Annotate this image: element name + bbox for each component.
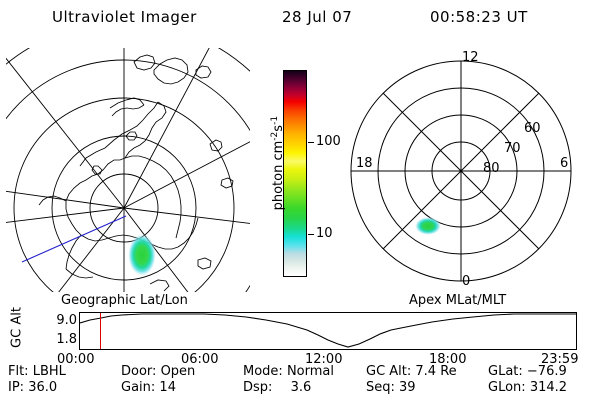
status-gcalt: GC Alt: 7.4 Re (366, 364, 457, 379)
status-glat-value: −76.9 (527, 364, 567, 379)
colorbar-axis-label-mid: s (271, 125, 286, 132)
status-door-value: Open (161, 364, 196, 379)
status-ip-label: IP: (8, 380, 24, 395)
status-seq-value: 39 (399, 380, 416, 395)
status-gcalt-label: GC Alt: (366, 364, 411, 379)
status-dsp-value: 3.6 (291, 380, 312, 395)
mlat-label-60: 60 (524, 121, 541, 136)
mlt-label-0: 0 (462, 274, 470, 289)
mlt-label-18: 18 (356, 156, 373, 171)
colorbar-axis-label: photon cm-2s-1 (270, 83, 286, 243)
altitude-curve (80, 314, 576, 347)
status-glon: GLon: 314.2 (488, 380, 567, 395)
colorbar-label-10: 10 (316, 227, 333, 240)
strip-y-axis-label: GC Alt (10, 295, 25, 361)
mlat-label-80: 80 (483, 161, 500, 176)
strip-plot-box (79, 312, 577, 350)
geographic-map-svg (6, 48, 250, 292)
status-seq: Seq: 39 (366, 380, 416, 395)
colorbar-tick-100 (308, 142, 314, 143)
status-door: Door: Open (121, 364, 195, 379)
auroral-emission-spot-apex (415, 217, 441, 235)
colorbar-tick-10 (308, 234, 314, 235)
altitude-curve-svg (80, 313, 576, 349)
colorbar-axis-label-sup1: -2 (270, 132, 280, 141)
status-glon-label: GLon: (488, 380, 526, 395)
colorbar (283, 70, 307, 277)
uvi-summary-plot: Ultraviolet Imager 28 Jul 07 00:58:23 UT (0, 0, 600, 400)
mlt-label-12: 12 (462, 50, 479, 65)
status-gain-value: 14 (159, 380, 176, 395)
current-time-marker (100, 313, 101, 349)
latitude-circles (6, 48, 250, 292)
colorbar-label-100: 100 (316, 135, 341, 148)
status-dsp-label: Dsp: (243, 380, 272, 395)
mlat-label-70: 70 (504, 141, 521, 156)
mlt-label-6: 6 (560, 156, 568, 171)
status-glat-label: GLat: (488, 364, 523, 379)
strip-ytick-low: 1.8 (56, 332, 77, 347)
status-flt-label: Flt: (8, 364, 29, 379)
status-footer: Flt: LBHL Door: Open Mode: Normal GC Alt… (0, 364, 600, 398)
status-gcalt-value: 7.4 Re (415, 364, 456, 379)
status-ip-value: 36.0 (28, 380, 57, 395)
status-flt: Flt: LBHL (8, 364, 66, 379)
orbit-altitude-strip: GC Alt 9.0 1.8 00:00 06:00 12:00 18:00 2… (0, 306, 600, 360)
colorbar-panel: 100 10 photon cm-2s-1 (252, 60, 348, 292)
status-mode: Mode: Normal (243, 364, 334, 379)
status-dsp: Dsp: 3.6 (243, 380, 311, 395)
apex-dial-panel: 12 6 0 18 60 70 80 (348, 48, 594, 292)
strip-ytick-high: 9.0 (56, 313, 77, 328)
colorbar-axis-label-sup2: -1 (270, 116, 280, 125)
status-seq-label: Seq: (366, 380, 395, 395)
page-title: Ultraviolet Imager (52, 8, 197, 28)
apex-dial-svg: 12 6 0 18 60 70 80 (348, 48, 594, 292)
geographic-map-panel (6, 48, 250, 292)
status-gain-label: Gain: (121, 380, 155, 395)
status-door-label: Door: (121, 364, 156, 379)
colorbar-axis-label-main: photon cm (271, 141, 286, 211)
status-gain: Gain: 14 (121, 380, 176, 395)
auroral-emission-spot (128, 234, 156, 276)
status-glat: GLat: −76.9 (488, 364, 567, 379)
observation-time: 00:58:23 UT (430, 8, 528, 28)
status-mode-value: Normal (287, 364, 334, 379)
colorbar-gradient (284, 71, 306, 276)
status-mode-label: Mode: (243, 364, 283, 379)
status-flt-value: LBHL (33, 364, 66, 379)
status-ip: IP: 36.0 (8, 380, 57, 395)
status-glon-value: 314.2 (530, 380, 567, 395)
observation-date: 28 Jul 07 (282, 8, 352, 28)
